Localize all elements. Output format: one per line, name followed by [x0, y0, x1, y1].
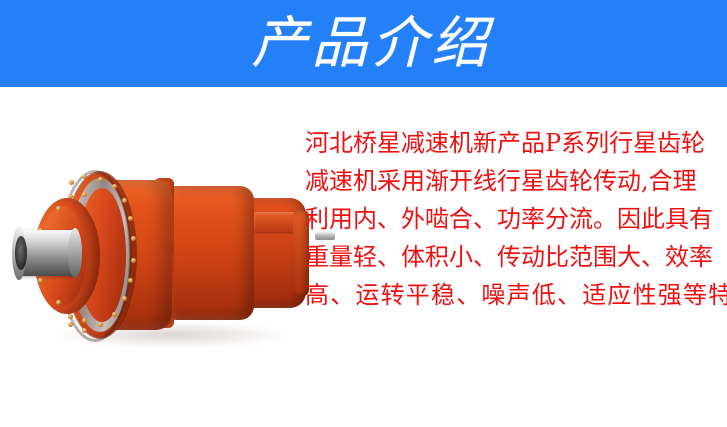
flange-bolt — [82, 328, 87, 333]
reducer-second-stage-housing — [162, 186, 254, 320]
reducer-nameplate — [254, 212, 298, 232]
hub-bolt — [38, 278, 43, 283]
hub-bolt — [68, 194, 73, 199]
product-description-text: 河北桥星减速机新产品P系列行星齿轮 减速机采用渐开线行星齿轮传动,合理 利用内、… — [305, 124, 721, 314]
hub-bolt — [56, 300, 61, 305]
flange-bolt — [98, 177, 103, 182]
hub-bolt — [82, 318, 87, 323]
page-title: 产品介绍 — [8, 0, 727, 87]
flange-bolt — [68, 322, 73, 327]
reducer-shaft-bore — [15, 236, 27, 270]
flange-bolt — [69, 180, 74, 185]
description-line: 高、运转平稳、噪声低、适应性强等特点。 — [305, 276, 721, 314]
description-line: 利用内、外啮合、功率分流。因此具有 — [305, 200, 721, 238]
product-image-planetary-gear-reducer — [12, 172, 317, 352]
flange-bolt — [112, 312, 117, 317]
product-introduction-page: 产品介绍 — [0, 0, 727, 427]
flange-bolt — [122, 296, 127, 301]
flange-bolt — [131, 236, 136, 241]
flange-bolt — [128, 216, 133, 221]
header-banner: 产品介绍 — [0, 0, 727, 87]
flange-bolt — [128, 278, 133, 283]
flange-bolt — [112, 184, 117, 189]
hub-bolt — [56, 206, 61, 211]
hub-bolt — [68, 314, 73, 319]
flange-bolt — [82, 174, 87, 179]
reducer-shaft-shoulder — [68, 228, 82, 278]
flange-bolt — [131, 258, 136, 263]
flange-bolt — [122, 198, 127, 203]
flange-bolt — [98, 322, 103, 327]
description-line: 河北桥星减速机新产品P系列行星齿轮 — [305, 124, 721, 162]
hub-bolt — [82, 192, 87, 197]
description-line: 减速机采用渐开线行星齿轮传动,合理 — [305, 162, 721, 200]
description-line: 重量轻、体积小、传动比范围大、效率 — [305, 238, 721, 276]
